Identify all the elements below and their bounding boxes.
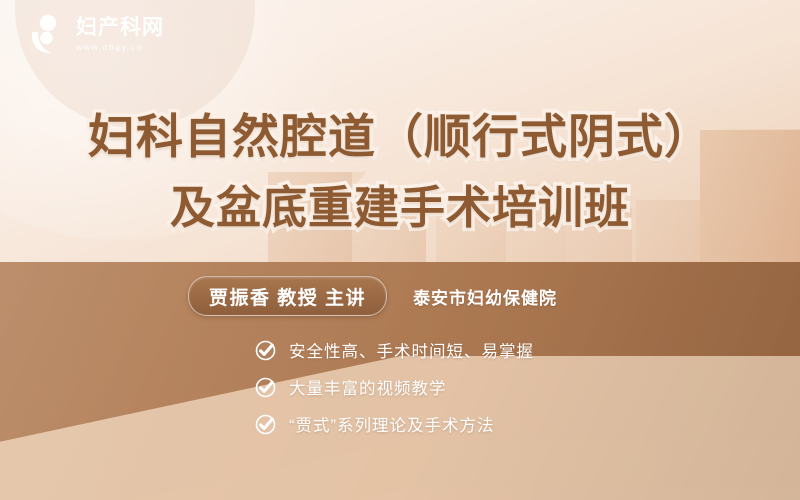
speaker-pill[interactable]: 贾振香 教授 主讲 (188, 276, 387, 316)
mother-and-child-icon (26, 12, 68, 56)
list-item: 大量丰富的视频教学 (255, 375, 534, 399)
feature-list: 安全性高、手术时间短、易掌握 大量丰富的视频教学 “贾式”系列理论及手术方法 (255, 338, 534, 436)
check-circle-icon (255, 377, 276, 398)
logo-site-name: 妇产科网 (76, 17, 164, 38)
check-circle-icon (255, 414, 276, 435)
list-item-label: 安全性高、手术时间短、易掌握 (289, 338, 534, 362)
list-item: “贾式”系列理论及手术方法 (255, 412, 534, 436)
speaker-organization: 泰安市妇幼保健院 (413, 284, 557, 309)
list-item-label: “贾式”系列理论及手术方法 (289, 412, 495, 436)
course-promo-banner: 妇产科网 www.obgy.cn 妇科自然腔道（顺行式阴式） 及盆底重建手术培训… (0, 0, 800, 500)
list-item: 安全性高、手术时间短、易掌握 (255, 338, 534, 362)
check-circle-icon (255, 340, 276, 361)
logo-text-block: 妇产科网 www.obgy.cn (76, 17, 164, 52)
list-item-label: 大量丰富的视频教学 (289, 375, 447, 399)
logo-site-url: www.obgy.cn (76, 43, 164, 52)
banner-title: 妇科自然腔道（顺行式阴式） 及盆底重建手术培训班 (0, 108, 800, 236)
title-line-2: 及盆底重建手术培训班 (0, 180, 800, 236)
title-line-1: 妇科自然腔道（顺行式阴式） (0, 108, 800, 166)
speaker-row: 贾振香 教授 主讲 泰安市妇幼保健院 (188, 276, 557, 316)
site-logo[interactable]: 妇产科网 www.obgy.cn (26, 12, 164, 56)
